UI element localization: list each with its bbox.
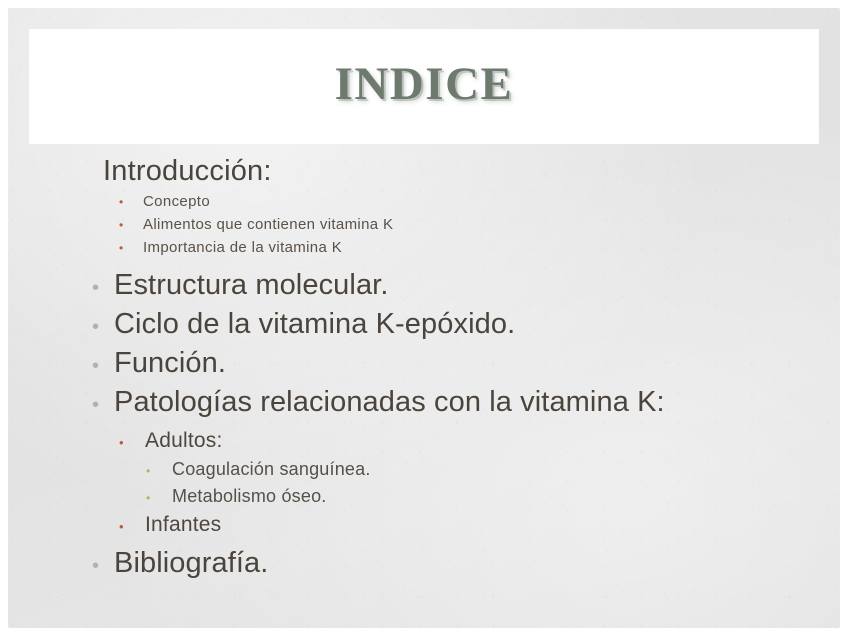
title-placeholder-inner: INDICE (30, 30, 818, 143)
outline-item-label: Alimentos que contienen vitamina K (143, 213, 393, 236)
outline-item-intro-sub-2[interactable]: • Alimentos que contienen vitamina K (0, 213, 848, 236)
bullet-dot-icon: • (119, 196, 143, 208)
content-placeholder[interactable]: Introducción: • Concepto • Alimentos que… (0, 152, 848, 583)
bullet-dot-icon: • (92, 278, 114, 298)
outline-item-label: Adultos: (145, 426, 222, 456)
bullet-dot-icon: • (146, 492, 172, 504)
outline-item-intro-sub-1[interactable]: • Concepto (0, 190, 848, 213)
spacer (0, 259, 848, 266)
presentation-slide: INDICE Introducción: • Concepto • Alimen… (0, 0, 848, 636)
bullet-dot-icon: • (92, 395, 114, 415)
bullet-dot-icon: • (119, 242, 143, 254)
bullet-dot-icon: • (92, 356, 114, 376)
outline-item-intro-heading[interactable]: Introducción: (0, 152, 848, 190)
outline-item-label: Bibliografía. (114, 544, 268, 583)
outline-item-infantes[interactable]: • Infantes (0, 510, 848, 540)
outline-item-metabolismo-oseo[interactable]: • Metabolismo óseo. (0, 483, 848, 510)
outline-item-label: Función. (114, 344, 226, 383)
title-placeholder[interactable]: INDICE (30, 30, 818, 143)
outline-item-label: Patologías relacionadas con la vitamina … (114, 383, 665, 422)
outline-item-estructura-molecular[interactable]: • Estructura molecular. (0, 266, 848, 305)
page-title: INDICE (335, 61, 514, 112)
outline-item-coagulacion-sanguinea[interactable]: • Coagulación sanguínea. (0, 456, 848, 483)
outline-item-label: Metabolismo óseo. (172, 483, 326, 510)
outline-item-label: Concepto (143, 190, 210, 213)
bullet-dot-icon: • (119, 219, 143, 231)
bullet-dot-icon: • (92, 556, 114, 576)
outline-item-label: Introducción: (103, 152, 272, 190)
outline-item-intro-sub-3[interactable]: • Importancia de la vitamina K (0, 236, 848, 259)
bullet-dot-icon: • (119, 520, 145, 533)
outline-item-label: Ciclo de la vitamina K-epóxido. (114, 305, 515, 344)
outline-item-label: Infantes (145, 510, 221, 540)
outline-item-funcion[interactable]: • Función. (0, 344, 848, 383)
outline-item-adultos[interactable]: • Adultos: (0, 426, 848, 456)
bullet-dot-icon: • (146, 465, 172, 477)
outline-item-label: Estructura molecular. (114, 266, 389, 305)
outline-item-ciclo-vitamina-k[interactable]: • Ciclo de la vitamina K-epóxido. (0, 305, 848, 344)
outline-item-patologias[interactable]: • Patologías relacionadas con la vitamin… (0, 383, 848, 422)
bullet-dot-icon: • (119, 436, 145, 449)
bullet-dot-icon: • (92, 317, 114, 337)
outline-item-label: Coagulación sanguínea. (172, 456, 371, 483)
outline-item-label: Importancia de la vitamina K (143, 236, 342, 259)
outline-item-bibliografia[interactable]: • Bibliografía. (0, 544, 848, 583)
